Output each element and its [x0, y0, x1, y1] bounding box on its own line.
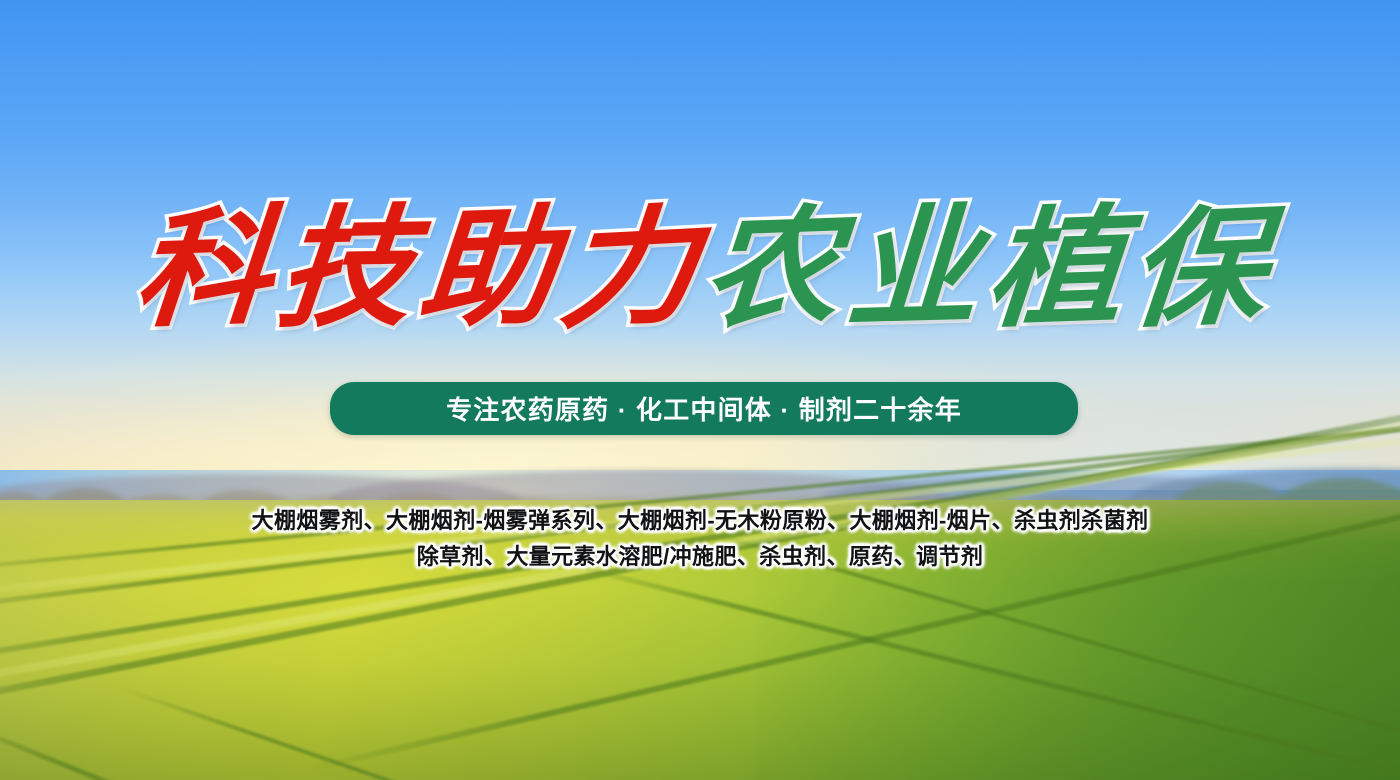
product-line-1: 大棚烟雾剂、大棚烟剂-烟雾弹系列、大棚烟剂-无木粉原粉、大棚烟剂-烟片、杀虫剂杀…	[0, 503, 1400, 539]
hero-banner: 科技助力农业植保 专注农药原药 · 化工中间体 · 制剂二十余年 大棚烟雾剂、大…	[0, 0, 1400, 780]
subtitle-text: 专注农药原药 · 化工中间体 · 制剂二十余年	[446, 390, 962, 427]
product-list: 大棚烟雾剂、大棚烟剂-烟雾弹系列、大棚烟剂-无木粉原粉、大棚烟剂-烟片、杀虫剂杀…	[0, 503, 1400, 574]
subtitle-pill: 专注农药原药 · 化工中间体 · 制剂二十余年	[330, 382, 1078, 435]
product-line-2: 除草剂、大量元素水溶肥/冲施肥、杀虫剂、原药、调节剂	[0, 539, 1400, 575]
